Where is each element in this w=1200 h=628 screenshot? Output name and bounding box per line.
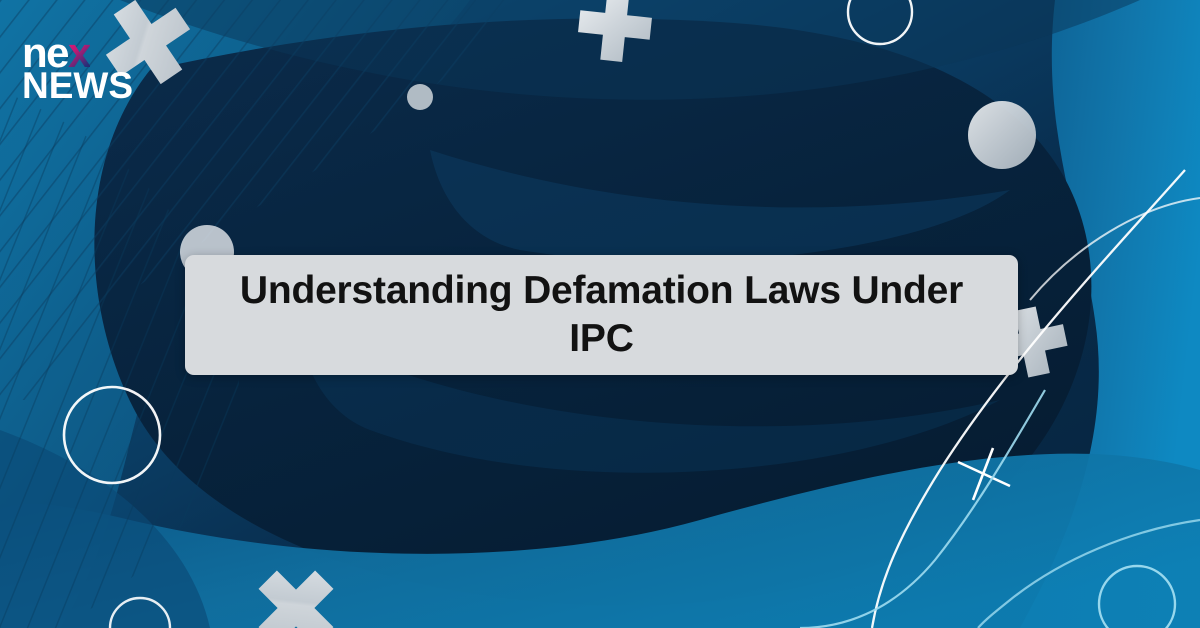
circle-filled-right-large <box>968 101 1036 169</box>
brand-logo-line2: NEWS <box>22 67 133 104</box>
article-banner: nex NEWS Understanding Defamation Laws U… <box>0 0 1200 628</box>
article-title: Understanding Defamation Laws Under IPC <box>207 267 996 362</box>
brand-logo[interactable]: nex NEWS <box>22 32 133 104</box>
circle-filled-top-left-small <box>407 84 433 110</box>
article-title-card: Understanding Defamation Laws Under IPC <box>185 255 1018 375</box>
